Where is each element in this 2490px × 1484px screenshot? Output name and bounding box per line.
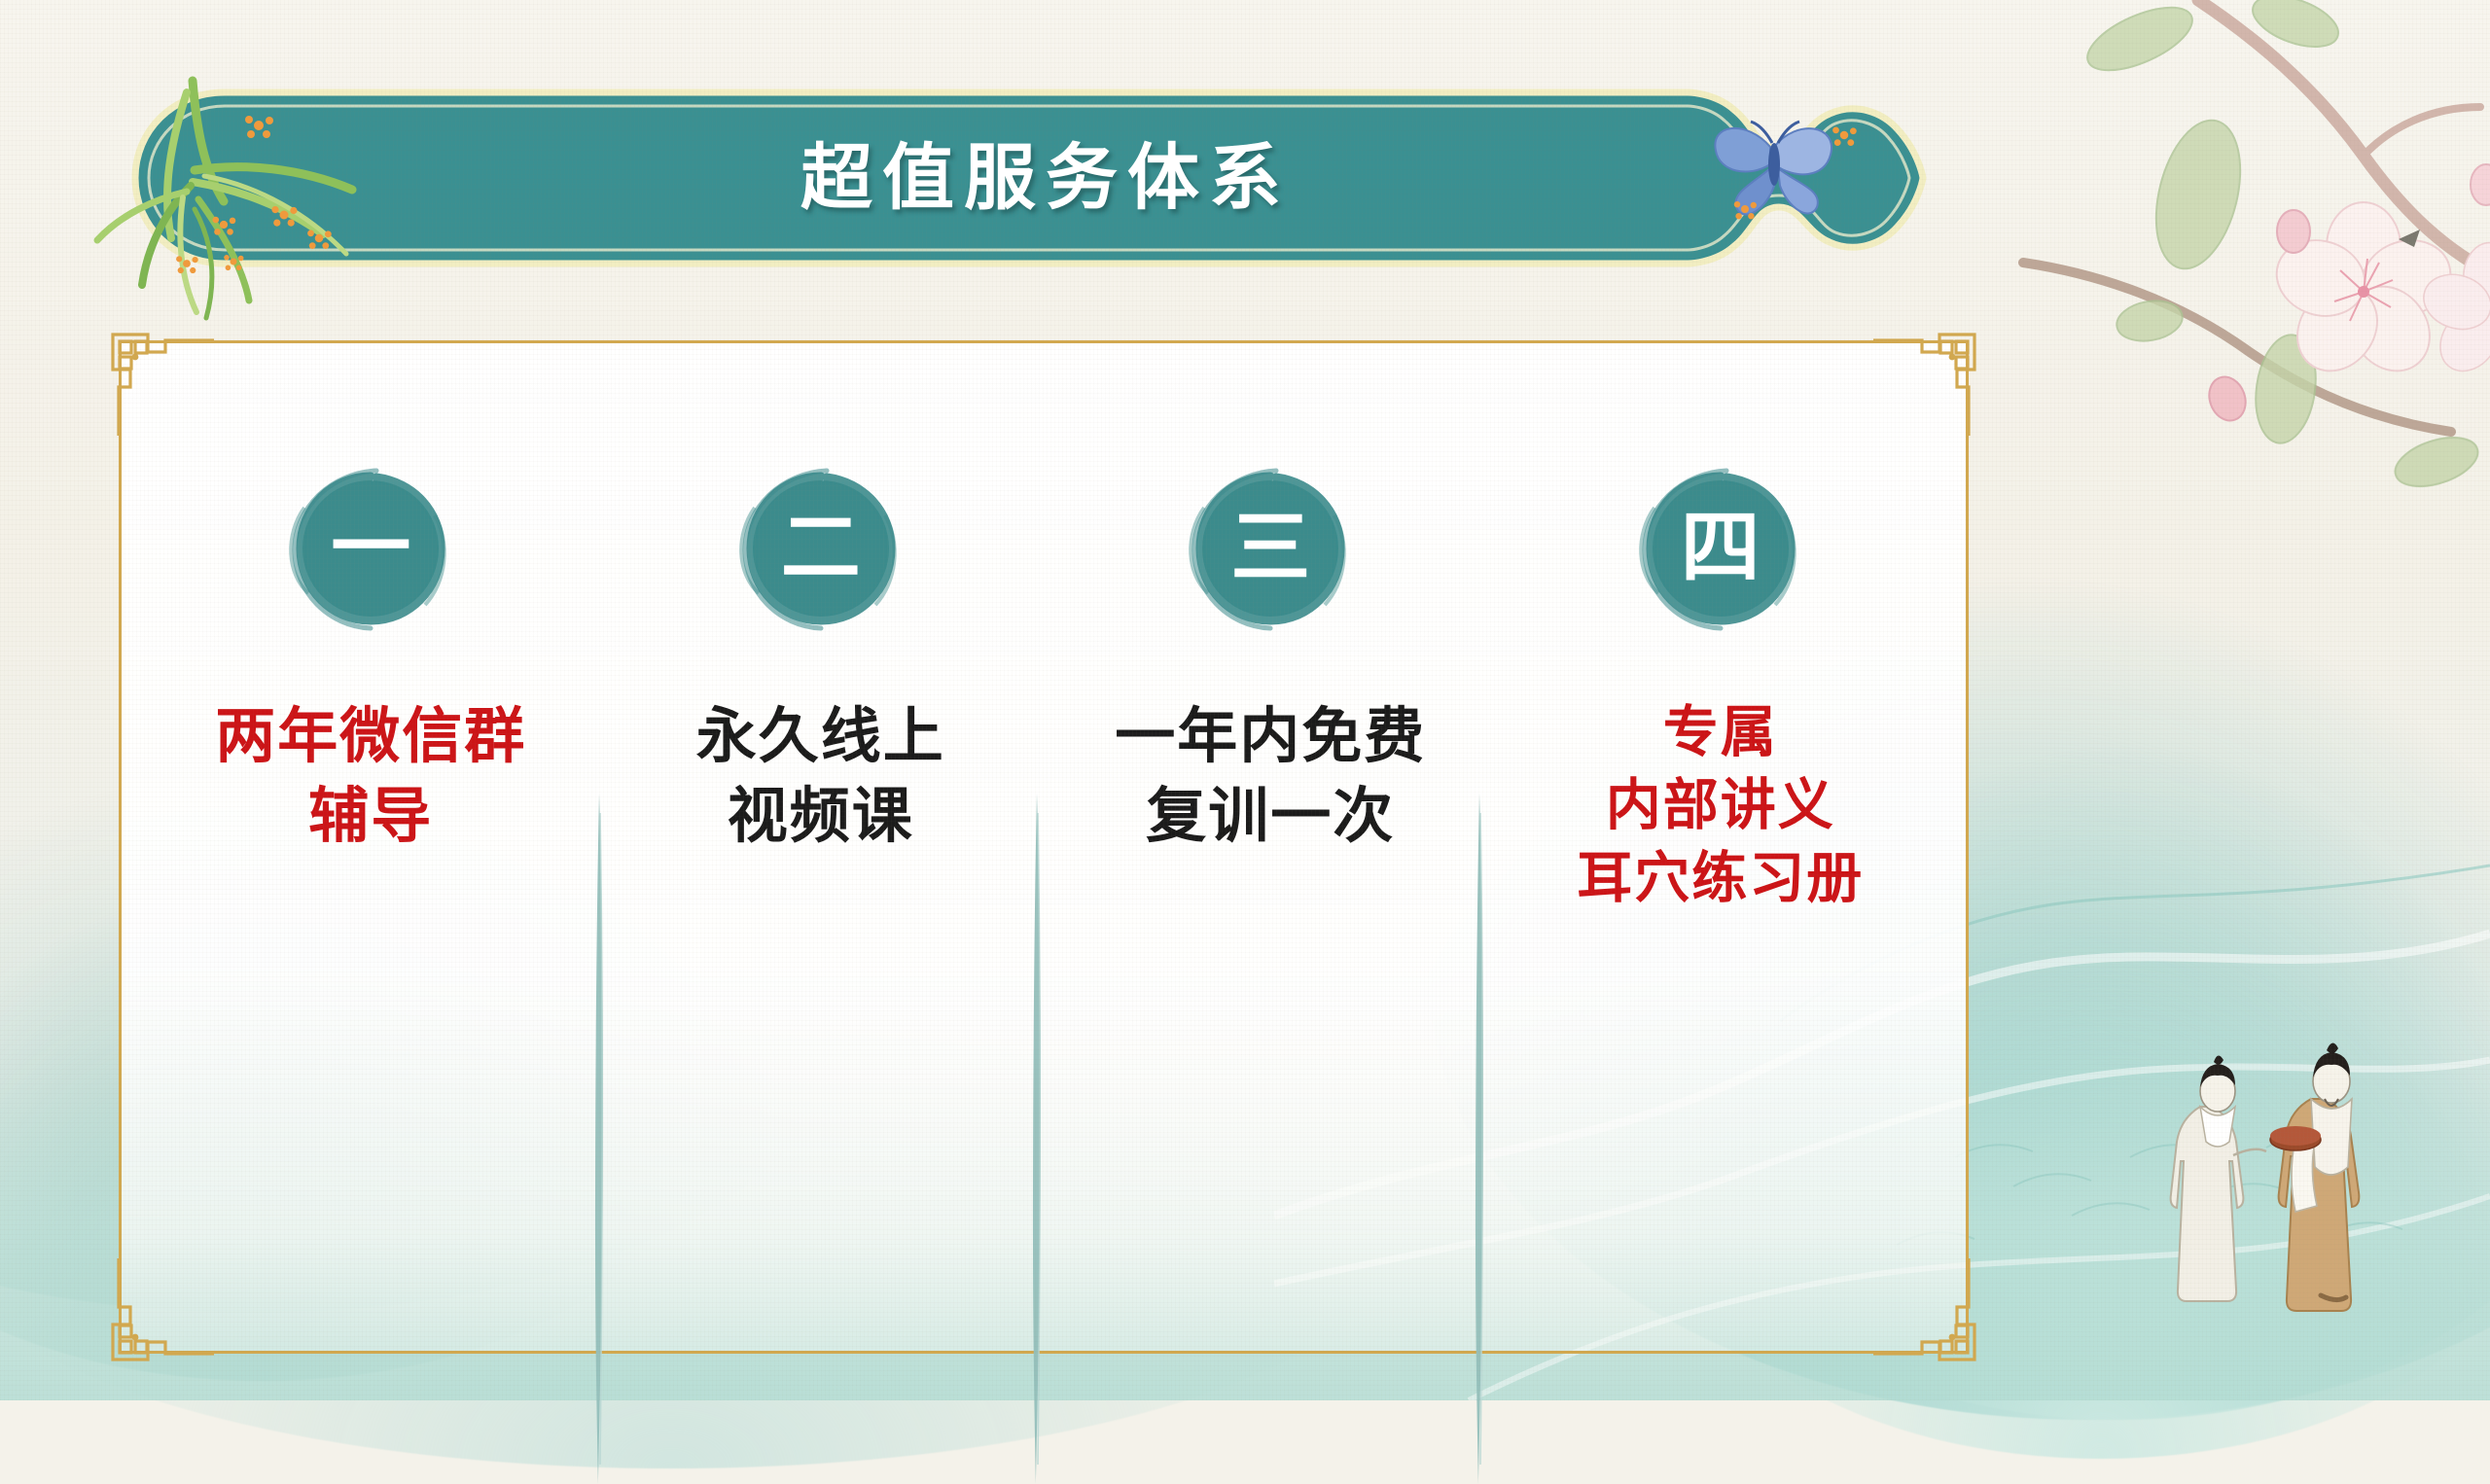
- badge-numeral: 三: [1179, 457, 1362, 640]
- badge-numeral: 四: [1629, 457, 1812, 640]
- badge-2: 二: [729, 457, 912, 640]
- page-title: 超值服务体系: [131, 125, 1960, 230]
- badge-3: 三: [1179, 457, 1362, 640]
- badge-numeral: 一: [279, 457, 462, 640]
- badge-1: 一: [279, 457, 462, 640]
- badge-numeral: 二: [729, 457, 912, 640]
- badge-4: 四: [1629, 457, 1812, 640]
